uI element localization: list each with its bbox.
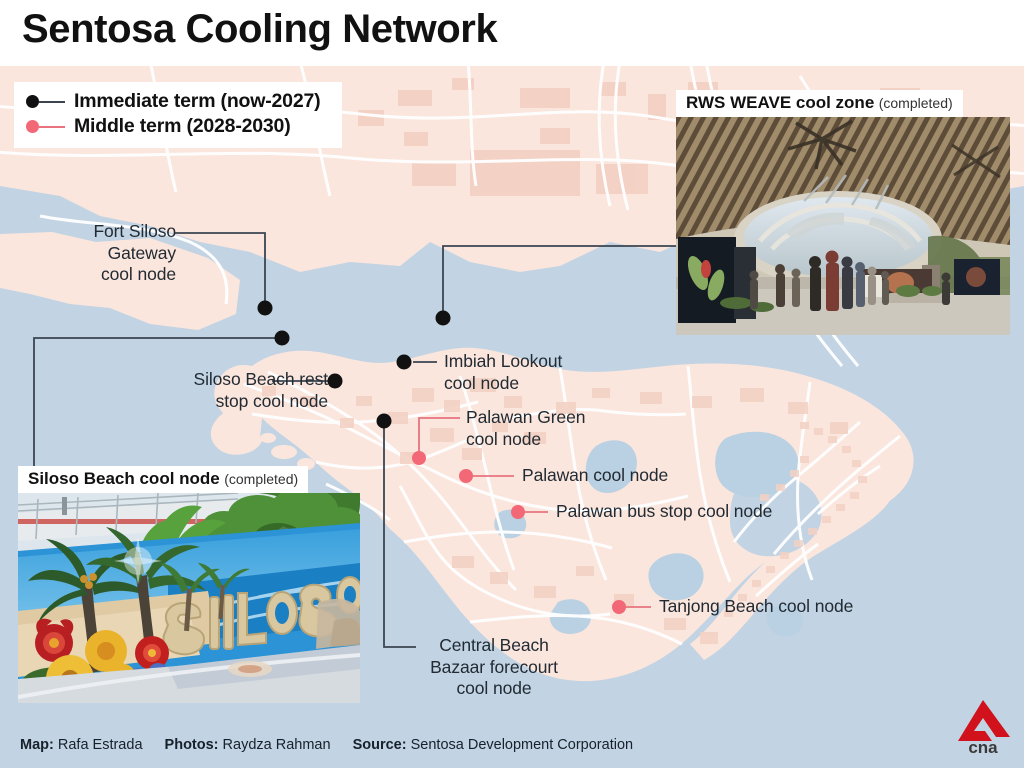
credit-map-label: Map: (20, 737, 54, 753)
callout-fort-siloso-gateway: Fort Siloso Gateway cool node (42, 221, 176, 286)
node-central-beach-bazaar (377, 414, 392, 429)
credit-source-label: Source: (353, 737, 407, 753)
photo-siloso-beach-mural (18, 493, 360, 703)
node-siloso-beach-rest-stop (328, 374, 343, 389)
photo-caption-rws-weave: RWS WEAVE cool zone (completed) (676, 90, 963, 117)
callout-palawan: Palawan cool node (522, 465, 742, 487)
black-dot-icon (26, 95, 39, 108)
photo-caption-sub-siloso-beach: (completed) (224, 471, 298, 487)
credit-photos-label: Photos: (165, 737, 219, 753)
legend-item-immediate: Immediate term (now-2027) (26, 89, 320, 114)
photo-card-rws-weave: RWS WEAVE cool zone (completed) (676, 90, 1010, 335)
title-bar: Sentosa Cooling Network (0, 0, 1024, 66)
legend-line-middle (39, 126, 65, 128)
cna-logo-text: cna (968, 738, 998, 755)
legend-line-immediate (39, 101, 65, 103)
photo-caption-siloso-beach: Siloso Beach cool node (completed) (18, 466, 308, 493)
legend-item-middle: Middle term (2028-2030) (26, 114, 320, 139)
cna-logo: cna (952, 697, 1014, 755)
page-title: Sentosa Cooling Network (22, 7, 497, 52)
map-canvas: Immediate term (now-2027) Middle term (2… (0, 66, 1024, 725)
node-palawan-green (412, 451, 426, 465)
credit-source-value: Sentosa Development Corporation (411, 737, 633, 753)
node-imbiah-lookout (397, 355, 412, 370)
red-flower-2 (135, 636, 169, 670)
legend-label-middle: Middle term (2028-2030) (74, 115, 291, 138)
callout-central-beach-bazaar: Central Beach Bazaar forecourt cool node (404, 635, 584, 700)
node-tanjong-beach (612, 600, 626, 614)
photo-caption-main-rws-weave: RWS WEAVE cool zone (686, 93, 874, 112)
node-rws-weave (436, 311, 451, 326)
photo-rws-weave-atrium (676, 117, 1010, 335)
callout-siloso-beach-rest-stop: Siloso Beach rest stop cool node (98, 369, 328, 412)
node-palawan-bus-stop (511, 505, 525, 519)
photo-caption-sub-rws-weave: (completed) (879, 95, 953, 111)
credit-photos-value: Raydza Rahman (223, 737, 331, 753)
legend-label-immediate: Immediate term (now-2027) (74, 90, 320, 113)
node-fort-siloso-gateway (258, 301, 273, 316)
photo-caption-main-siloso-beach: Siloso Beach cool node (28, 469, 220, 488)
callout-palawan-bus-stop: Palawan bus stop cool node (556, 501, 856, 523)
photo-card-siloso-beach: Siloso Beach cool node (completed) (18, 466, 360, 703)
credit-map-value: Rafa Estrada (58, 737, 143, 753)
credits: Map: Rafa Estrada Photos: Raydza Rahman … (20, 737, 633, 753)
node-palawan (459, 469, 473, 483)
footer-bar: Map: Rafa Estrada Photos: Raydza Rahman … (0, 725, 1024, 768)
legend: Immediate term (now-2027) Middle term (2… (14, 82, 342, 148)
infographic-root: Sentosa Cooling Network (0, 0, 1024, 768)
pink-dot-icon (26, 120, 39, 133)
callout-palawan-green: Palawan Green cool node (466, 407, 666, 450)
node-siloso-beach (275, 331, 290, 346)
callout-imbiah-lookout: Imbiah Lookout cool node (444, 351, 644, 394)
callout-tanjong-beach: Tanjong Beach cool node (659, 596, 939, 618)
